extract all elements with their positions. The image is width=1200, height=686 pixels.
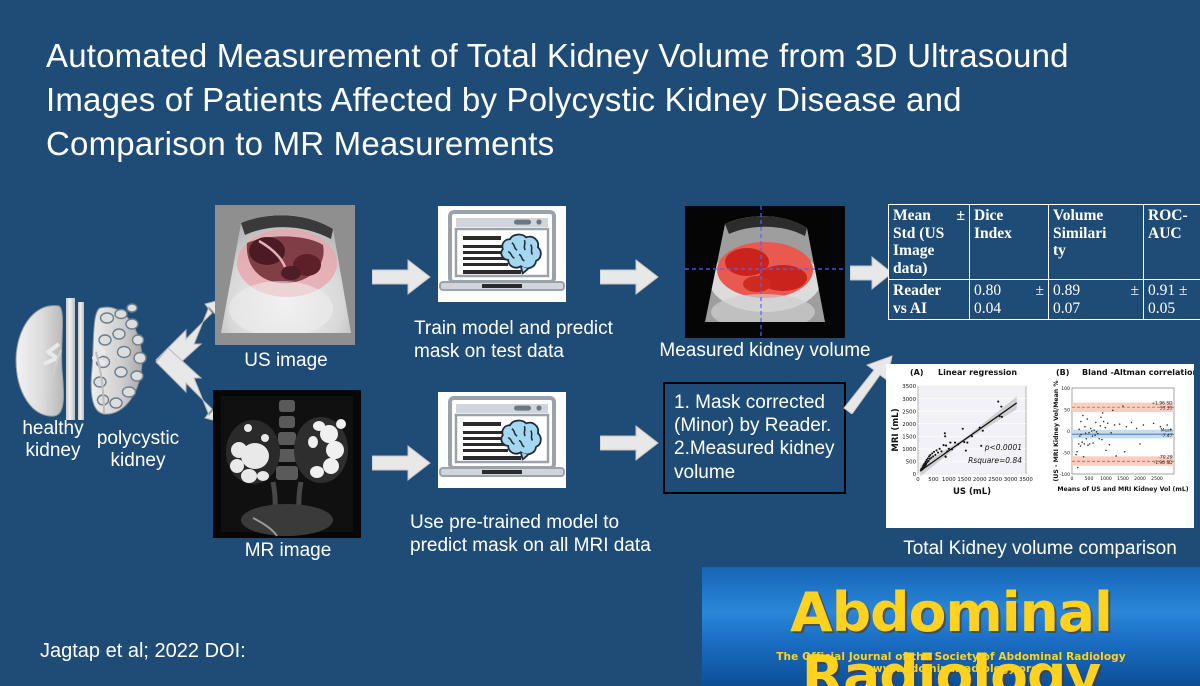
dice-pm: ±	[1035, 282, 1044, 300]
citation-text: Jagtap et al; 2022 DOI:	[40, 640, 246, 663]
panel-a-xtick: 3500	[1019, 477, 1033, 483]
panel-b-data-point	[1078, 443, 1080, 445]
panel-a-ytick: 2000	[902, 422, 916, 428]
panel-b-data-point	[1139, 443, 1141, 445]
hdr-dice: Dice	[974, 207, 1044, 225]
panel-a-data-point	[932, 455, 934, 457]
panel-b-data-point	[1102, 412, 1104, 414]
panel-a-data-point	[937, 452, 939, 454]
metrics-table-head: Mean± Std (US Image data) Dice Index Vol…	[889, 205, 1200, 280]
panel-b-xlabel: Means of US and MRI Kidney Vol (mL)	[1057, 486, 1188, 493]
panel-a-data-point	[948, 448, 950, 450]
panel-a-data-point	[943, 444, 945, 446]
hdr-ty: ty	[1053, 242, 1139, 260]
panel-b-data-point	[1092, 442, 1094, 444]
panel-a-data-point	[945, 445, 947, 447]
mr-image-svg	[213, 390, 361, 538]
panel-b-xtick: 500	[1085, 476, 1094, 482]
panel-b-mean-label: Mean	[1161, 427, 1173, 433]
panel-b-data-point	[1119, 423, 1121, 425]
panel-a-xtick: 3000	[1004, 477, 1018, 483]
us-image-caption: US image	[215, 350, 357, 373]
chart-svg: (A)Linear regression05001000150020002500…	[886, 364, 1194, 528]
panel-b-data-point	[1090, 428, 1092, 430]
panel-a-rsquare: Rsquare=0.84	[968, 456, 1022, 465]
hdr-similari: Similari	[1053, 225, 1139, 243]
panel-b-data-point	[1166, 424, 1168, 426]
panel-a-xtick: 500	[928, 477, 939, 483]
arrow-model-to-volume	[600, 258, 662, 298]
roc-value: 0.91 ±	[1148, 282, 1200, 300]
panel-a-ytick: 2500	[902, 409, 916, 415]
polycystic-kidney-label: polycystic kidney	[86, 428, 190, 472]
pretrained-model-caption: Use pre-trained model to predict mask on…	[410, 512, 670, 558]
panel-a-data-point	[1001, 416, 1003, 418]
panel-a-data-point	[951, 448, 953, 450]
panel-b-data-point	[1115, 455, 1117, 457]
panel-b-data-point	[1096, 431, 1098, 433]
panel-a-data-point	[997, 401, 999, 403]
panel-b-data-point	[1085, 438, 1087, 440]
header-dice-index: Dice Index	[970, 205, 1049, 280]
panel-b-data-point	[1114, 424, 1116, 426]
panel-b-data-point	[1091, 430, 1093, 432]
textbox-line-4: volume	[674, 461, 838, 484]
panel-a-data-point	[982, 430, 984, 432]
panel-a-data-point	[927, 460, 929, 462]
panel-a-xtick: 2500	[988, 477, 1002, 483]
panel-a-data-point	[946, 450, 948, 452]
panel-a-data-point	[927, 457, 929, 459]
panel-b-data-point	[1098, 438, 1100, 440]
reader-correction-textbox: 1. Mask corrected (Minor) by Reader. 2.M…	[663, 382, 846, 494]
train-model-laptop-icon	[438, 206, 566, 302]
panel-a-data-point	[939, 448, 941, 450]
vs-value: 0.89	[1053, 282, 1080, 300]
panel-b-data-point	[1077, 467, 1079, 469]
hdr-image: Image	[893, 242, 965, 260]
panel-b-data-point	[1087, 418, 1089, 420]
panel-b-xtick: 1500	[1117, 476, 1129, 482]
panel-b-data-point	[1084, 426, 1086, 428]
hdr-std-us: Std (US	[893, 225, 965, 243]
arrow-us-to-model	[372, 258, 434, 298]
panel-b-label: (B)	[1056, 368, 1069, 377]
mr-image-caption: MR image	[213, 540, 363, 563]
panel-b-data-point	[1079, 435, 1081, 437]
hdr-roc: ROC-	[1148, 207, 1200, 225]
row-label-line2: vs AI	[893, 300, 965, 318]
panel-a-xtick: 1500	[957, 477, 971, 483]
panel-a-xlabel: US (mL)	[953, 487, 991, 497]
panel-b-data-point	[1076, 451, 1078, 453]
table-row: Reader vs AI 0.80± 0.04 0.89± 0.07 0.91 …	[889, 280, 1200, 320]
panel-b-data-point	[1092, 435, 1094, 437]
textbox-line-3: 2.Measured kidney	[674, 437, 838, 460]
cell-dice-index: 0.80± 0.04	[970, 280, 1049, 320]
pretrained-model-laptop-icon	[438, 392, 566, 488]
panel-a-data-point	[944, 432, 946, 434]
panel-b-xtick: 1000	[1100, 476, 1112, 482]
panel-b-ytick: -50	[1062, 451, 1070, 457]
panel-a-ytick: 1000	[902, 447, 916, 453]
panel-b-ytick: 0	[1067, 429, 1070, 435]
panel-b-data-point	[1112, 410, 1114, 412]
panel-b-data-point	[1089, 443, 1091, 445]
panel-b-data-point	[1126, 426, 1128, 428]
hdr-data: data)	[893, 260, 965, 278]
panel-b-data-point	[1080, 434, 1082, 436]
measured-volume-svg	[685, 206, 845, 338]
panel-a-ytick: 1500	[902, 434, 916, 440]
panel-b-data-point	[1131, 422, 1133, 424]
panel-b-lower-loa-value: -70.29	[1158, 455, 1172, 461]
panel-b-data-point	[1083, 443, 1085, 445]
panel-b-data-point	[1143, 424, 1145, 426]
panel-a-data-point	[963, 441, 965, 443]
textbox-line-2: (Minor) by Reader.	[674, 414, 838, 437]
textbox-line-1: 1. Mask corrected	[674, 391, 838, 414]
laptop-brain-icon-2	[438, 392, 566, 488]
cell-volume-similarity: 0.89± 0.07	[1049, 280, 1144, 320]
panel-a-data-point	[954, 442, 956, 444]
panel-b-lower-loa-label: -1.96 SD	[1154, 460, 1174, 466]
panel-a-data-point	[949, 442, 951, 444]
panel-b-data-point	[1097, 433, 1099, 435]
hdr-pm: ±	[956, 207, 965, 225]
panel-b-data-point	[1095, 422, 1097, 424]
panel-a-xtick: 0	[916, 477, 920, 483]
healthy-kidney-label: healthy kidney	[10, 418, 96, 462]
header-roc-auc: ROC- AUC	[1144, 205, 1200, 280]
panel-a-data-point	[930, 457, 932, 459]
metrics-table-body: Reader vs AI 0.80± 0.04 0.89± 0.07 0.91 …	[889, 280, 1200, 320]
panel-b-ylabel: (US - MRI Kidney Vol/Mean %	[1053, 380, 1060, 481]
panel-b-xtick: 2000	[1134, 476, 1146, 482]
panel-b-xtick: 2500	[1151, 476, 1163, 482]
chart-panel: (A)Linear regression05001000150020002500…	[886, 364, 1194, 528]
panel-a-ytick: 3500	[902, 384, 916, 390]
panel-b-xtick: 0	[1071, 476, 1074, 482]
panel-b-data-point	[1109, 444, 1111, 446]
panel-a-label: (A)	[910, 368, 924, 377]
panel-b-data-point	[1105, 450, 1107, 452]
panel-a-data-point	[931, 452, 933, 454]
arrow-model-to-textbox	[600, 424, 662, 464]
hdr-volume: Volume	[1053, 207, 1139, 225]
panel-b-data-point	[1100, 416, 1102, 418]
panel-b-data-point	[1082, 415, 1084, 417]
laptop-brain-icon	[438, 206, 566, 302]
panel-b-data-point	[1110, 432, 1112, 434]
dice-value: 0.80	[974, 282, 1001, 300]
panel-b-title: Bland -Altman correlation	[1082, 368, 1194, 377]
panel-a-data-point	[1000, 406, 1002, 408]
panel-a-data-point	[944, 435, 946, 437]
panel-b-data-point	[1160, 426, 1162, 428]
panel-a-data-point	[965, 450, 967, 452]
panel-a-data-point	[979, 427, 981, 429]
page-title: Automated Measurement of Total Kidney Vo…	[46, 34, 1136, 166]
panel-a-data-point	[935, 449, 937, 451]
panel-b-ytick: 50	[1064, 408, 1070, 414]
arrow-mr-to-model	[372, 444, 434, 484]
panel-a-data-point	[957, 443, 959, 445]
panel-b-data-point	[1124, 451, 1126, 453]
panel-b-data-point	[1081, 441, 1083, 443]
panel-b-data-point	[1075, 454, 1077, 456]
roc-sd: 0.05	[1148, 300, 1200, 318]
panel-a-data-point	[940, 450, 942, 452]
vs-sd: 0.07	[1053, 300, 1139, 318]
panel-b-data-point	[1099, 425, 1101, 427]
panel-b-data-point	[1103, 421, 1105, 423]
header-volume-similarity: Volume Similari ty	[1049, 205, 1144, 280]
panel-a-data-point	[934, 454, 936, 456]
chart-caption: Total Kidney volume comparison	[880, 538, 1200, 561]
dice-sd: 0.04	[974, 300, 1044, 318]
panel-a-pvalue: p<0.0001	[984, 443, 1022, 452]
panel-b-ytick: 100	[1061, 386, 1070, 392]
panel-a-data-point	[971, 435, 973, 437]
panel-b-data-point	[1080, 421, 1082, 423]
cell-roc-auc: 0.91 ± 0.05	[1144, 280, 1200, 320]
ultrasound-image-svg	[215, 205, 355, 345]
measured-kidney-volume-image	[685, 206, 845, 338]
train-model-caption: Train model and predict mask on test dat…	[414, 318, 639, 364]
panel-a-data-point	[933, 451, 935, 453]
cell-row-label: Reader vs AI	[889, 280, 970, 320]
panel-a-data-point	[999, 415, 1001, 417]
panel-a-title: Linear regression	[938, 368, 1017, 377]
panel-a-xtick: 2000	[973, 477, 987, 483]
graphical-abstract: Automated Measurement of Total Kidney Vo…	[0, 0, 1200, 686]
panel-a-data-point	[925, 463, 927, 465]
panel-a-ytick: 500	[906, 460, 917, 466]
panel-b-data-point	[1087, 444, 1089, 446]
panel-b-data-point	[1107, 422, 1109, 424]
panel-b-upper-loa-label: +1.96 SD	[1151, 400, 1173, 406]
panel-b-data-point	[1083, 456, 1085, 458]
panel-b-data-point	[1093, 429, 1095, 431]
journal-tagline: The Official Journal of the Society of A…	[702, 651, 1200, 675]
panel-b-data-point	[1105, 427, 1107, 429]
panel-b-data-point	[1136, 428, 1138, 430]
ultrasound-image	[215, 205, 355, 345]
panel-b-mean-value: -7.47	[1161, 433, 1173, 439]
header-mean-std: Mean± Std (US Image data)	[889, 205, 970, 280]
panel-b-upper-loa-value: 55.35	[1160, 406, 1173, 412]
vs-pm: ±	[1130, 282, 1139, 300]
panel-a-data-point	[945, 456, 947, 458]
metrics-table: Mean± Std (US Image data) Dice Index Vol…	[888, 204, 1200, 320]
hdr-mean: Mean	[893, 207, 931, 225]
panel-a-ytick: 3000	[902, 397, 916, 403]
panel-b-data-point	[1153, 422, 1155, 424]
panel-b-data-point	[1080, 445, 1082, 447]
panel-b-data-point	[1122, 405, 1124, 407]
mr-image	[213, 390, 361, 538]
panel-b-data-point	[1088, 432, 1090, 434]
row-label-line1: Reader	[893, 282, 965, 300]
panel-a-data-point	[980, 445, 982, 447]
panel-a-data-point	[962, 428, 964, 430]
hdr-index: Index	[974, 225, 1044, 243]
panel-a-ylabel: MRI (mL)	[891, 408, 901, 451]
panel-b-ytick: -100	[1060, 472, 1071, 478]
panel-b-data-point	[1101, 439, 1103, 441]
panel-a-xtick: 1000	[942, 477, 956, 483]
panel-b-data-point	[1078, 428, 1080, 430]
journal-logo: Abdominal Radiology The Official Journal…	[702, 567, 1200, 686]
panel-b-data-point	[1094, 435, 1096, 437]
panel-b-data-point	[1085, 432, 1087, 434]
table-header-row: Mean± Std (US Image data) Dice Index Vol…	[889, 205, 1200, 280]
panel-a-data-point	[929, 454, 931, 456]
panel-a-data-point	[966, 442, 968, 444]
hdr-auc: AUC	[1148, 225, 1200, 243]
